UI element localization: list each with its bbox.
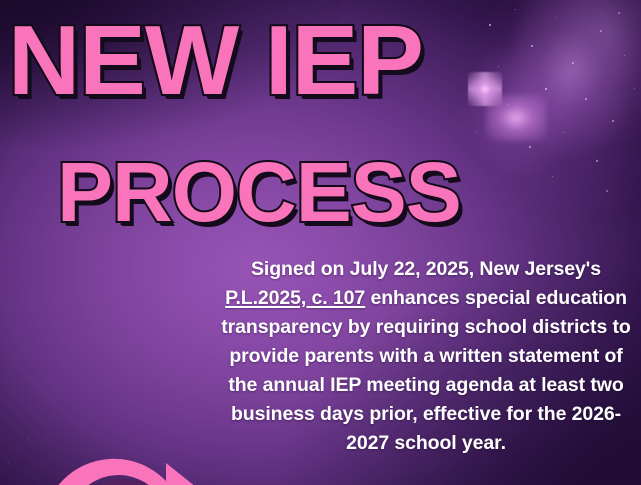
poster-canvas: NEW IEP PROCESS Signed on July 22, 2025,… <box>0 0 641 485</box>
body-text-before-citation: Signed on July 22, 2025, New Jersey's <box>251 258 601 280</box>
body-text-after-citation: enhances special education transparency … <box>221 287 630 454</box>
headline-line-2: PROCESS <box>57 150 461 234</box>
headline-line-1: NEW IEP <box>8 11 423 109</box>
statute-citation: P.L.2025, c. 107 <box>225 287 365 309</box>
body-paragraph: Signed on July 22, 2025, New Jersey's P.… <box>214 255 638 458</box>
speed-gauge-arrow-icon <box>38 423 214 485</box>
